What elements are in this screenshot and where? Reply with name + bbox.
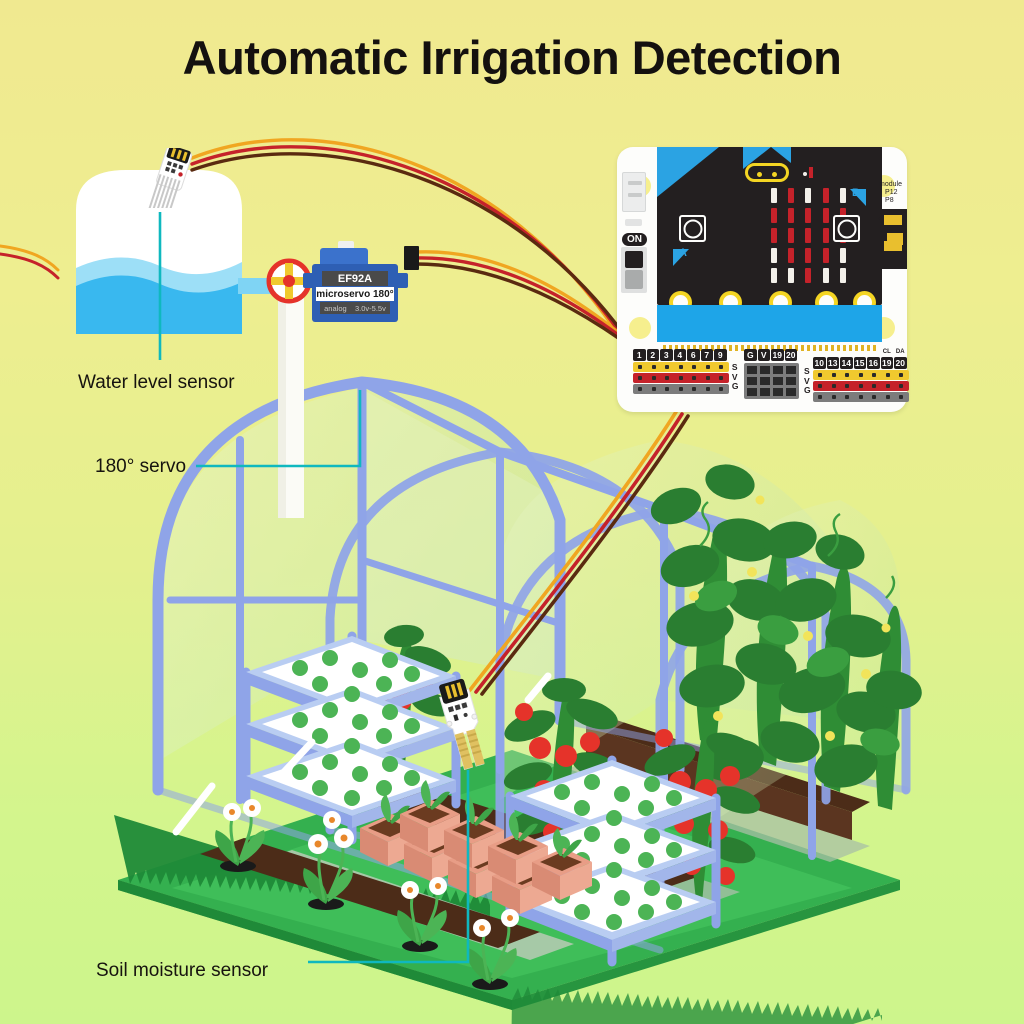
- led-3-0: [771, 248, 777, 263]
- microbit-logo-icon: [745, 163, 789, 182]
- pin-hole-dot: [845, 373, 849, 377]
- led-0-4: [840, 188, 846, 203]
- power-switch-knob[interactable]: [625, 251, 643, 268]
- pin-hole-mid-8[interactable]: [747, 388, 757, 396]
- pin-hole-G-1[interactable]: [634, 386, 647, 393]
- servo-voltage-label: 3.0v-5.5v: [355, 304, 386, 313]
- decor-triangle-3: [771, 147, 791, 163]
- pin-hole-V-16[interactable]: [868, 383, 881, 390]
- pin-hole-mid-9[interactable]: [760, 388, 770, 396]
- callout-soil-moisture-sensor: Soil moisture sensor: [96, 960, 268, 982]
- pin-hole-dot: [845, 384, 849, 388]
- callout-water-level-sensor: Water level sensor: [78, 372, 235, 394]
- servo-model-label: EF92A: [322, 271, 388, 286]
- pin-hole-mid-6[interactable]: [773, 377, 783, 385]
- led-0-0: [771, 188, 777, 203]
- led-4-2: [805, 268, 811, 283]
- pin-hole-S-13[interactable]: [828, 372, 841, 379]
- pin-hole-G-2[interactable]: [648, 386, 661, 393]
- pin-number-3: 3: [660, 349, 673, 361]
- pin-number-20: 20: [785, 349, 798, 361]
- pin-hole-S-6[interactable]: [688, 364, 701, 371]
- pin-hole-mid-11[interactable]: [786, 388, 796, 396]
- pin-cap-1: [827, 349, 840, 357]
- pin-hole-V-7[interactable]: [702, 375, 715, 382]
- pin-hole-S-1[interactable]: [634, 364, 647, 371]
- pin-hole-dot: [832, 395, 836, 399]
- pin-hole-G-6[interactable]: [688, 386, 701, 393]
- led-2-0: [771, 228, 777, 243]
- pin-hole-dot: [832, 384, 836, 388]
- pin-cap-2: [840, 349, 853, 357]
- pin-hole-dot: [886, 395, 890, 399]
- pin-number-G: G: [744, 349, 757, 361]
- callout-servo-180: 180° servo: [95, 456, 186, 478]
- pin-number-row: 1234679: [633, 349, 729, 361]
- pin-number-19: 19: [881, 357, 894, 369]
- power-on-label: ON: [622, 233, 647, 246]
- pin-hole-dot: [899, 373, 903, 377]
- pin-group-right[interactable]: CLDA10131415161920SVG: [813, 349, 909, 403]
- radio-module-pad: [887, 233, 903, 245]
- module-p8-label: P8: [885, 197, 902, 205]
- pin-hole-dot: [886, 373, 890, 377]
- pin-number-10: 10: [813, 357, 826, 369]
- module-p12-label: P12: [885, 189, 902, 197]
- small-pad: [625, 219, 642, 226]
- module-label-block: module P12 P8: [879, 181, 902, 205]
- pin-row-letters: SVG: [732, 363, 739, 392]
- pin-hole-dot: [638, 387, 642, 391]
- servo-type-label: microservo 180°: [316, 287, 394, 301]
- led-0-3: [823, 188, 829, 203]
- pin-number-row: GV1920: [744, 349, 799, 361]
- pin-number-4: 4: [674, 349, 687, 361]
- soil-moisture-sensor-board: [436, 676, 490, 772]
- pin-number-1: 1: [633, 349, 646, 361]
- pin-hole-S-9[interactable]: [715, 364, 728, 371]
- servo-connector: [404, 246, 419, 270]
- led-4-1: [788, 268, 794, 283]
- pin-hole-V-10[interactable]: [814, 383, 827, 390]
- pin-row-S[interactable]: [813, 370, 909, 380]
- button-a[interactable]: [679, 215, 706, 242]
- pin-hole-mid-1[interactable]: [760, 366, 770, 374]
- pin-hole-V-19[interactable]: [882, 383, 895, 390]
- pin-row-G[interactable]: [633, 384, 729, 394]
- pin-cap-3: [854, 349, 867, 357]
- pin-hole-V-6[interactable]: [688, 375, 701, 382]
- pin-hole-V-1[interactable]: [634, 375, 647, 382]
- pin-hole-S-19[interactable]: [882, 372, 895, 379]
- pin-hole-G-20[interactable]: [895, 394, 908, 401]
- led-3-1: [788, 248, 794, 263]
- pin-hole-dot: [719, 376, 723, 380]
- led-2-1: [788, 228, 794, 243]
- pin-hole-dot: [706, 365, 710, 369]
- pin-hole-dot: [719, 365, 723, 369]
- pin-hole-V-14[interactable]: [841, 383, 854, 390]
- pin-hole-V-2[interactable]: [648, 375, 661, 382]
- pin-hole-mid-4[interactable]: [747, 377, 757, 385]
- pin-number-15: 15: [854, 357, 867, 369]
- pin-hole-V-15[interactable]: [855, 383, 868, 390]
- pin-hole-dot: [652, 376, 656, 380]
- pin-hole-dot: [652, 365, 656, 369]
- pin-hole-S-10[interactable]: [814, 372, 827, 379]
- power-switch[interactable]: [621, 247, 647, 293]
- pin-hole-S-20[interactable]: [895, 372, 908, 379]
- pin-hole-dot: [719, 387, 723, 391]
- pin-row-V[interactable]: [813, 381, 909, 391]
- pin-hole-G-19[interactable]: [882, 394, 895, 401]
- mount-hole-bottom-left: [629, 317, 651, 339]
- pin-hole-dot: [679, 376, 683, 380]
- button-a-label: A: [679, 247, 687, 259]
- pin-hole-dot: [679, 387, 683, 391]
- pin-hole-mid-7[interactable]: [786, 377, 796, 385]
- pin-row-letters: SVG: [804, 367, 811, 396]
- pin-number-6: 6: [687, 349, 700, 361]
- pin-hole-dot: [665, 365, 669, 369]
- pin-hole-dot: [845, 395, 849, 399]
- pin-number-V: V: [758, 349, 771, 361]
- pin-hole-dot: [818, 373, 822, 377]
- pin-cap-5: CL: [881, 349, 894, 357]
- led-1-3: [823, 208, 829, 223]
- pin-hole-dot: [692, 365, 696, 369]
- pin-row-letter-G: G: [804, 386, 811, 396]
- pin-hole-dot: [859, 395, 863, 399]
- pin-hole-G-4[interactable]: [675, 386, 688, 393]
- pin-row-G[interactable]: [813, 392, 909, 402]
- servo-spec-label: analog 3.0v-5.5v: [320, 302, 390, 314]
- edge-connector-band: [657, 305, 882, 342]
- pin-hole-S-2[interactable]: [648, 364, 661, 371]
- pin-hole-S-3[interactable]: [661, 364, 674, 371]
- connector-slot-1: [628, 181, 642, 185]
- led-1-2: [805, 208, 811, 223]
- pin-cap-row: CLDA: [813, 349, 909, 357]
- pin-hole-dot: [832, 373, 836, 377]
- pin-hole-dot: [818, 395, 822, 399]
- pin-number-19: 19: [771, 349, 784, 361]
- pin-hole-G-16[interactable]: [868, 394, 881, 401]
- pin-hole-G-13[interactable]: [828, 394, 841, 401]
- pin-cap-4: [867, 349, 880, 357]
- pin-hole-V-20[interactable]: [895, 383, 908, 390]
- microbit-board[interactable]: A B ON module P12 P8: [617, 147, 907, 412]
- pin-hole-G-14[interactable]: [841, 394, 854, 401]
- pin-number-2: 2: [647, 349, 660, 361]
- led-0-2: [805, 188, 811, 203]
- microbit-display-panel: A B: [657, 147, 882, 305]
- pin-hole-dot: [872, 373, 876, 377]
- pin-number-16: 16: [867, 357, 880, 369]
- pin-hole-G-3[interactable]: [661, 386, 674, 393]
- led-4-4: [840, 268, 846, 283]
- pin-hole-dot: [692, 376, 696, 380]
- pin-hole-dot: [665, 387, 669, 391]
- pin-hole-dot: [859, 384, 863, 388]
- pin-hole-dot: [638, 376, 642, 380]
- pin-hole-dot: [872, 384, 876, 388]
- pin-hole-mid-10[interactable]: [773, 388, 783, 396]
- pin-hole-mid-3[interactable]: [786, 366, 796, 374]
- led-0-1: [788, 188, 794, 203]
- pin-hole-dot: [638, 365, 642, 369]
- pin-number-row: 10131415161920: [813, 357, 909, 369]
- pin-number-7: 7: [701, 349, 714, 361]
- pin-number-20: 20: [894, 357, 907, 369]
- power-switch-slot: [625, 270, 643, 289]
- led-2-2: [805, 228, 811, 243]
- pin-hole-S-15[interactable]: [855, 372, 868, 379]
- button-b-label: B: [852, 187, 860, 199]
- pin-hole-dot: [652, 387, 656, 391]
- pin-cap-0: [813, 349, 826, 357]
- pin-hole-V-13[interactable]: [828, 383, 841, 390]
- pin-hole-S-4[interactable]: [675, 364, 688, 371]
- led-4-3: [823, 268, 829, 283]
- button-b[interactable]: [833, 215, 860, 242]
- pin-group-left[interactable]: 1234679SVG: [633, 349, 729, 395]
- pin-hole-dot: [886, 384, 890, 388]
- pin-hole-dot: [679, 365, 683, 369]
- pin-hole-V-3[interactable]: [661, 375, 674, 382]
- pin-hole-dot: [859, 373, 863, 377]
- pin-hole-S-14[interactable]: [841, 372, 854, 379]
- pin-hole-dot: [706, 387, 710, 391]
- pin-hole-dot: [872, 395, 876, 399]
- pin-group-middle[interactable]: GV1920: [744, 349, 799, 399]
- pin-hole-dot: [899, 384, 903, 388]
- pin-hole-G-9[interactable]: [715, 386, 728, 393]
- led-3-3: [823, 248, 829, 263]
- pin-hole-S-7[interactable]: [702, 364, 715, 371]
- servo-signal-label: analog: [324, 304, 347, 313]
- pin-hole-mid-5[interactable]: [760, 377, 770, 385]
- pin-row-S[interactable]: [633, 362, 729, 372]
- pin-number-14: 14: [840, 357, 853, 369]
- pin-rows[interactable]: [813, 370, 909, 402]
- pin-hole-dot: [899, 395, 903, 399]
- led-2-3: [823, 228, 829, 243]
- middle-pin-block[interactable]: [744, 363, 799, 399]
- illustration-canvas: Automatic Irrigation Detection: [0, 0, 1024, 1024]
- led-4-0: [771, 268, 777, 283]
- pin-hole-mid-2[interactable]: [773, 366, 783, 374]
- battery-connector[interactable]: [622, 172, 646, 212]
- led-3-2: [805, 248, 811, 263]
- pin-row-letter-G: G: [732, 382, 739, 392]
- pin-hole-V-9[interactable]: [715, 375, 728, 382]
- antenna-icon: [809, 167, 813, 178]
- led-1-0: [771, 208, 777, 223]
- logo-eye-right: [772, 172, 777, 177]
- pin-hole-S-16[interactable]: [868, 372, 881, 379]
- led-3-4: [840, 248, 846, 263]
- water-level-sensor-board: [148, 148, 196, 208]
- decor-triangle-1: [657, 147, 719, 197]
- pin-cap-6: DA: [894, 349, 907, 357]
- pin-hole-G-15[interactable]: [855, 394, 868, 401]
- pin-row-V[interactable]: [633, 373, 729, 383]
- pin-hole-mid-0[interactable]: [747, 366, 757, 374]
- pin-hole-V-4[interactable]: [675, 375, 688, 382]
- pin-hole-G-7[interactable]: [702, 386, 715, 393]
- pin-rows[interactable]: [633, 362, 729, 394]
- connector-slot-2: [628, 193, 642, 197]
- pin-hole-dot: [665, 376, 669, 380]
- pin-hole-G-10[interactable]: [814, 394, 827, 401]
- pin-number-13: 13: [827, 357, 840, 369]
- status-led-icon: [803, 172, 807, 176]
- module-title-label: module: [879, 181, 902, 189]
- pin-hole-dot: [818, 384, 822, 388]
- servo-motor: EF92A microservo 180° analog 3.0v-5.5v: [312, 243, 418, 335]
- pin-number-9: 9: [714, 349, 727, 361]
- led-1-1: [788, 208, 794, 223]
- support-post: [278, 288, 304, 518]
- logo-eye-left: [757, 172, 762, 177]
- pin-hole-dot: [706, 376, 710, 380]
- pin-hole-dot: [692, 387, 696, 391]
